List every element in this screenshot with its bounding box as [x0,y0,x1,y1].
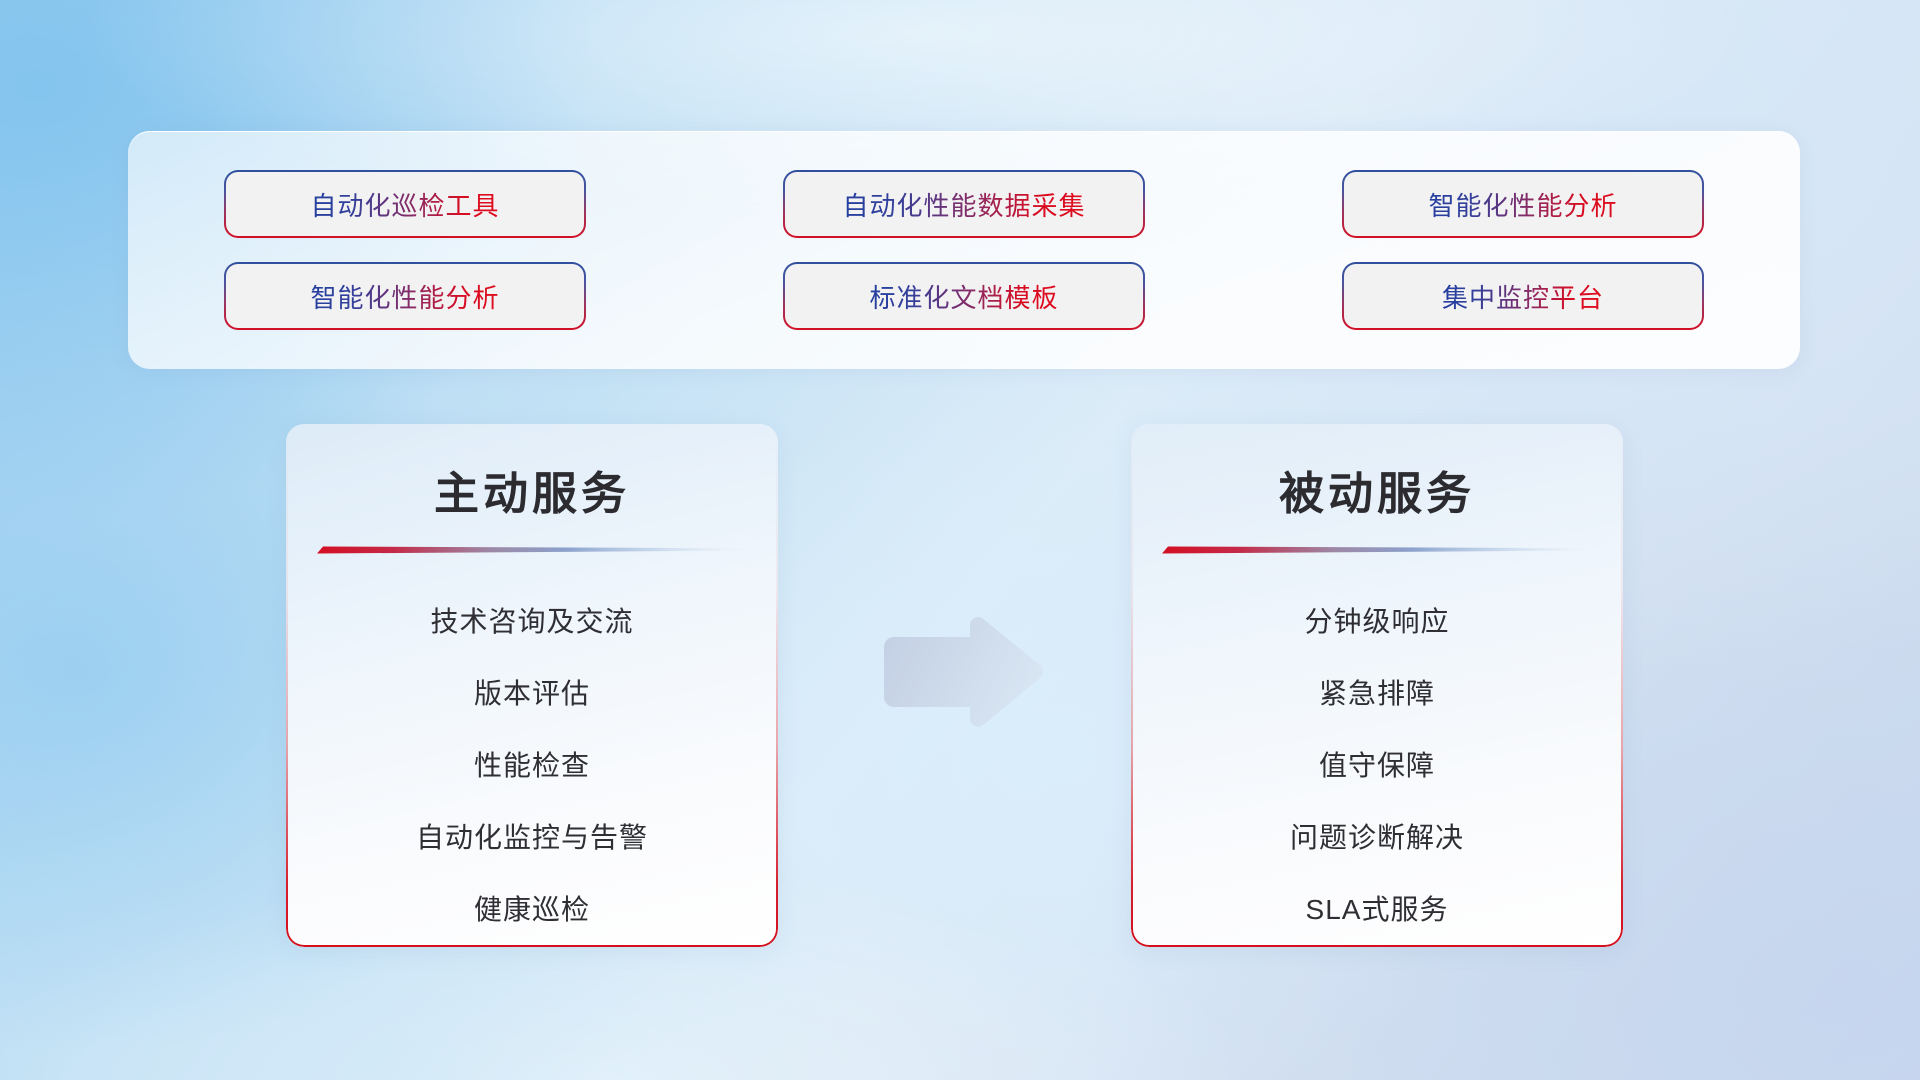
list-item: 分钟级响应 [1304,586,1449,658]
chip-automated-inspection-tool[interactable]: 自动化巡检工具 [226,172,584,236]
chip-label: 集中监控平台 [1442,278,1604,315]
service-card-reactive: 被动服务 分钟级响应 紧急排障 值守保障 [1131,424,1623,947]
list-item: 自动化监控与告警 [416,802,648,874]
chip-intelligent-performance-analysis[interactable]: 智能化性能分析 [1344,172,1702,236]
card-title: 被动服务 [1131,457,1623,522]
chip-standardized-document-template[interactable]: 标准化文档模板 [785,264,1143,328]
chip-label: 自动化性能数据采集 [842,186,1085,223]
chip-label: 自动化巡检工具 [310,186,499,223]
card-title: 主动服务 [286,457,778,522]
capability-chips-panel: 自动化巡检工具 自动化性能数据采集 智能化性能分析 智能化性能分析 标准化文档模… [128,131,1800,369]
list-item: 值守保障 [1319,730,1435,802]
diagram-canvas: 自动化巡检工具 自动化性能数据采集 智能化性能分析 智能化性能分析 标准化文档模… [0,0,1920,1080]
service-item-list: 技术咨询及交流 版本评估 性能检查 自动化监控与告警 健康巡检 [286,586,778,946]
list-item: 紧急排障 [1319,658,1435,730]
gradient-divider [1162,544,1592,556]
chip-intelligent-performance-analysis-2[interactable]: 智能化性能分析 [226,264,584,328]
list-item: SLA式服务 [1306,874,1449,946]
list-item: 健康巡检 [474,874,590,946]
chip-automated-performance-data-collection[interactable]: 自动化性能数据采集 [785,172,1143,236]
arrow-right-icon [874,617,1046,727]
service-item-list: 分钟级响应 紧急排障 值守保障 问题诊断解决 SLA式服务 [1131,586,1623,946]
list-item: 性能检查 [474,730,590,802]
gradient-divider [317,544,747,556]
chip-centralized-monitoring-platform[interactable]: 集中监控平台 [1344,264,1702,328]
list-item: 问题诊断解决 [1290,802,1464,874]
chip-row-2: 智能化性能分析 标准化文档模板 集中监控平台 [176,264,1752,328]
chip-label: 智能化性能分析 [1428,186,1617,223]
chip-label: 标准化文档模板 [869,278,1058,315]
service-card-proactive: 主动服务 技术咨询及交流 版本评估 性能检查 [286,424,778,947]
list-item: 技术咨询及交流 [430,586,633,658]
chip-row-1: 自动化巡检工具 自动化性能数据采集 智能化性能分析 [176,172,1752,236]
chip-label: 智能化性能分析 [310,278,499,315]
list-item: 版本评估 [474,658,590,730]
